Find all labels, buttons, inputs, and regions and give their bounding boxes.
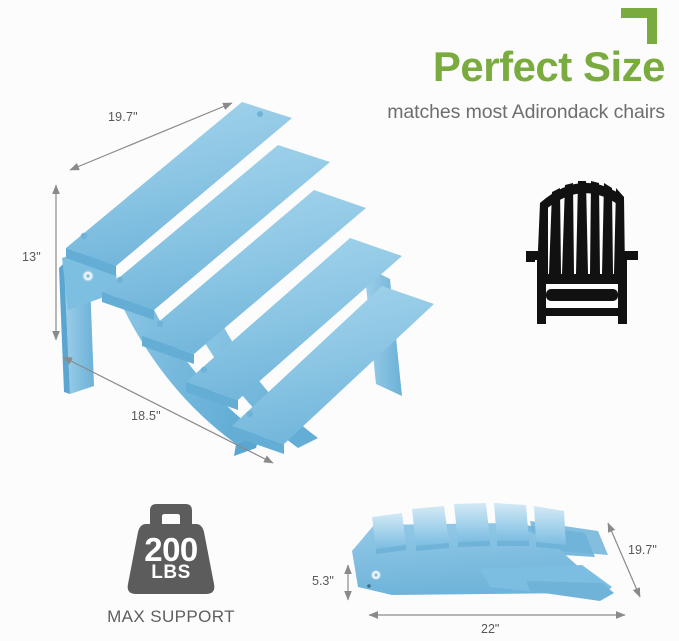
infographic-canvas: Perfect Size matches most Adirondack cha… [0,0,679,641]
dimension-label-folded-depth: 19.7" [628,543,657,557]
dimension-label-folded-length: 22" [481,622,499,636]
dimension-label-folded-thickness: 5.3" [312,574,334,588]
folded-dimension-lines [0,0,679,641]
